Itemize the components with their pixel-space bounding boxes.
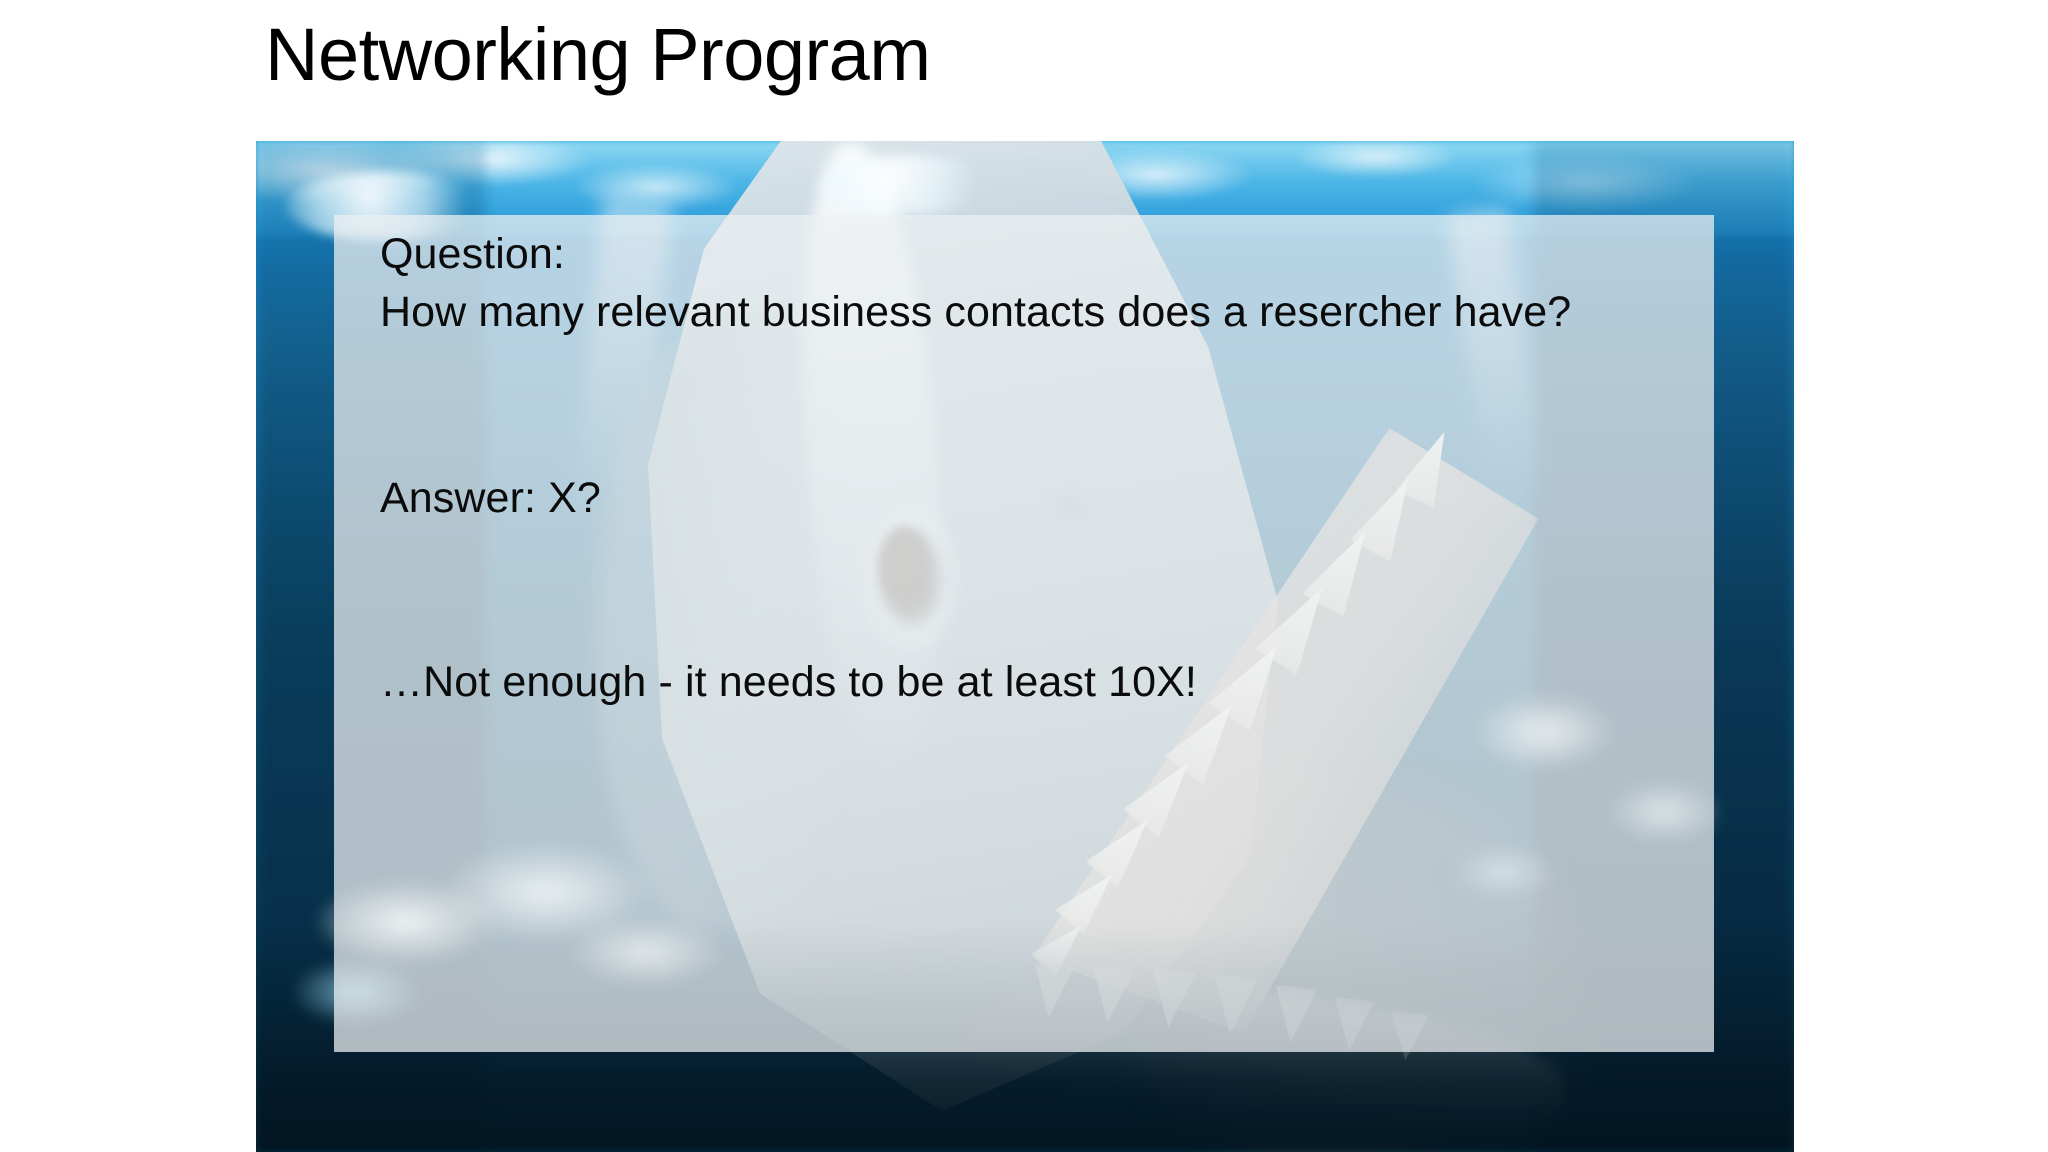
- foam-patch-top-mid: [816, 155, 996, 215]
- page-title: Networking Program: [265, 14, 1865, 95]
- question-label: Question:: [380, 228, 565, 281]
- question-text: How many relevant business contacts does…: [380, 286, 1670, 339]
- conclusion-text: …Not enough - it needs to be at least 10…: [380, 656, 1197, 709]
- text-overlay-panel: Question: How many relevant business con…: [334, 215, 1714, 1052]
- answer-text: Answer: X?: [380, 472, 601, 525]
- shark-photo: Question: How many relevant business con…: [256, 141, 1794, 1152]
- slide: Networking Program: [0, 0, 2048, 1152]
